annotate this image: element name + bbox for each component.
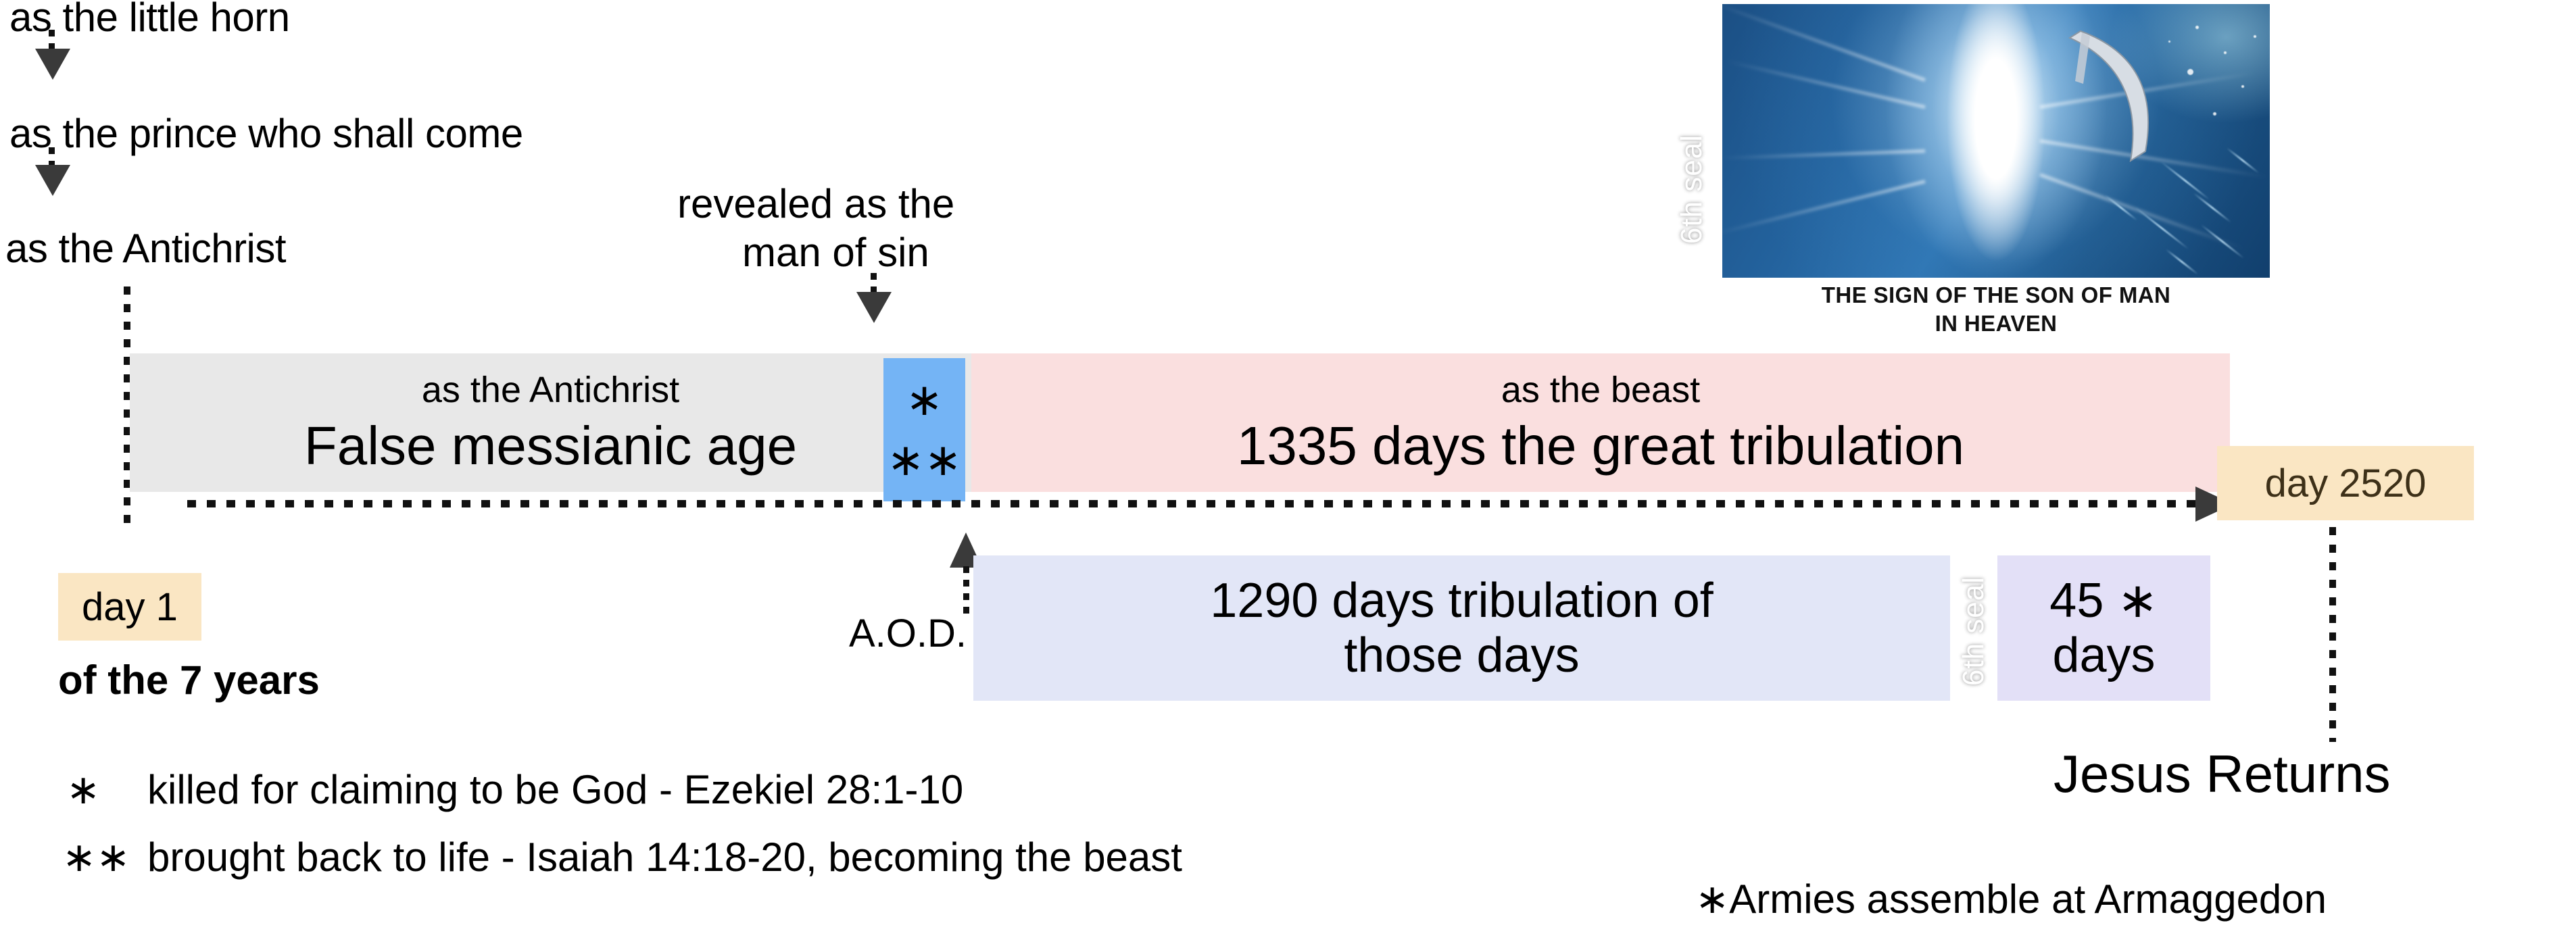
marker-jesus-returns: Jesus Returns: [2053, 743, 2391, 805]
callout-revealed-line2: man of sin: [742, 231, 929, 274]
seal-tab-lower-label: 6th seal: [1957, 576, 1991, 686]
marker-day-1-label: day 1: [82, 584, 178, 630]
seal-tab-upper-label: 6th seal: [1675, 134, 1709, 244]
marker-day-1: day 1: [58, 573, 201, 641]
timeline-diagram: as the little horn as the prince who sha…: [0, 0, 2576, 946]
footnote-single-star-symbol: ∗: [66, 766, 100, 814]
segment-false-messianic-age: as the Antichrist False messianic age: [130, 353, 971, 492]
segment-1290-days-line2: those days: [1344, 628, 1579, 682]
segment-great-tribulation-label: 1335 days the great tribulation: [1237, 415, 1964, 477]
cascade-label-prince: as the prince who shall come: [9, 112, 523, 155]
segment-false-messianic-age-sublabel: as the Antichrist: [422, 369, 679, 411]
footnote-single-star-text: killed for claiming to be God - Ezekiel …: [147, 766, 963, 813]
segment-great-tribulation-sublabel: as the beast: [1501, 369, 1700, 411]
segment-false-messianic-age-label: False messianic age: [304, 415, 797, 477]
segment-1290-days: 1290 days tribulation of those days: [973, 555, 1950, 701]
jesus-returns-vertical-dotted-line: [2329, 527, 2336, 742]
marker-day-2520: day 2520: [2217, 446, 2474, 520]
segment-1290-days-label: 1290 days tribulation of those days: [1210, 574, 1714, 682]
cascade-arrow-2-icon: [35, 165, 70, 196]
segment-1290-days-line1: 1290 days tribulation of: [1210, 574, 1714, 628]
footnote-double-star-symbol: ∗∗: [62, 834, 130, 881]
sign-of-son-of-man-image: [1722, 4, 2270, 278]
sickle-glyph-icon: [2055, 19, 2183, 174]
footnote-double-star-text: brought back to life - Isaiah 14:18-20, …: [147, 834, 1182, 880]
segment-revealed-marker: ∗ ∗∗: [883, 358, 965, 501]
seal-tab-lower: 6th seal: [1950, 559, 1997, 703]
timeline-dotted-axis: [187, 500, 2202, 507]
seal-tab-upper: 6th seal: [1671, 114, 1713, 265]
segment-45-days: 45 ∗ days: [1997, 555, 2210, 701]
segment-great-tribulation: as the beast 1335 days the great tribula…: [971, 353, 2230, 492]
marker-day-1-sublabel: of the 7 years: [58, 657, 320, 703]
marker-single-star: ∗: [906, 370, 943, 430]
segment-45-days-line1: 45 ∗: [2049, 574, 2158, 628]
cascade-label-antichrist: as the Antichrist: [5, 227, 286, 270]
footnote-armageddon: ∗Armies assemble at Armaggedon: [1695, 876, 2327, 923]
sign-caption-line1: THE SIGN OF THE SON OF MAN: [1822, 282, 2170, 307]
segment-45-days-line2: days: [2052, 628, 2155, 682]
cascade-arrow-1-icon: [35, 49, 70, 80]
marker-day-2520-label: day 2520: [2265, 461, 2427, 506]
sign-caption-line2: IN HEAVEN: [1935, 311, 2058, 336]
sign-caption: THE SIGN OF THE SON OF MANIN HEAVEN: [1722, 281, 2270, 338]
marker-double-star: ∗∗: [887, 430, 962, 490]
callout-revealed-arrow-icon: [856, 292, 892, 323]
callout-revealed-line1: revealed as the: [677, 182, 954, 225]
